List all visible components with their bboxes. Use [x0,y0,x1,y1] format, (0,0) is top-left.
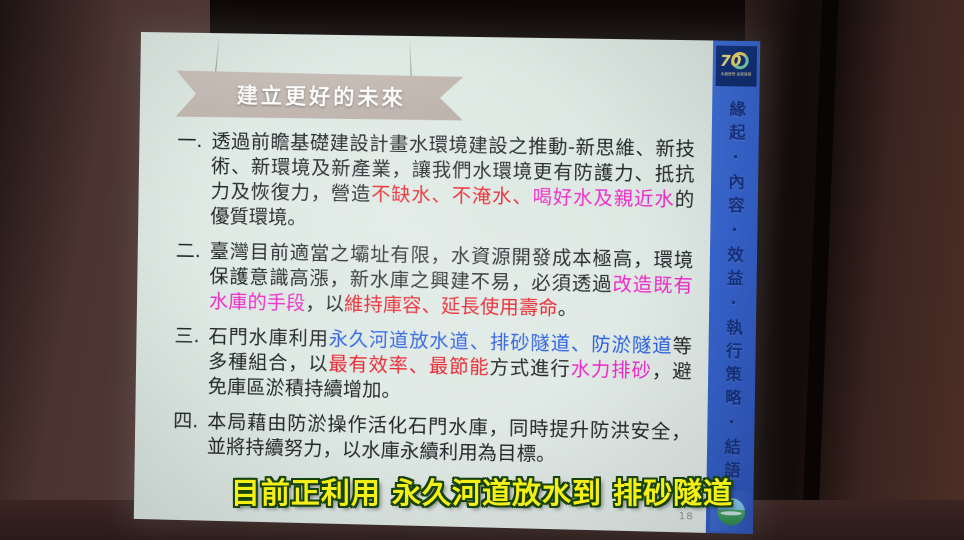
slide-title-banner: 建立更好的未來 [176,71,464,122]
text-segment-black: ，以 [305,292,344,315]
list-item-number: 三. [174,324,209,400]
text-segment-black: 。 [558,297,578,320]
text-segment-magenta: 喝好水及親近水 [532,186,674,211]
list-item: 二.臺灣目前適當之壩址有限，水資源開發成本極高，環境保護意識高漲，新水庫之興建不… [175,239,694,325]
text-segment-red: 最有效率、最節能 [328,353,490,379]
text-segment-magenta: 水力排砂 [570,358,652,382]
list-item-number: 二. [175,239,210,315]
list-item-text: 石門水庫利用永久河道放水道、排砂隧道、防淤隧道等多種組合，以最有效率、最節能方式… [208,324,693,410]
list-item: 一.透過前瞻基礎建設計畫水環境建設之推動-新思維、新技術、新環境及新產業，讓我們… [176,129,695,239]
text-segment-red: 維持庫容、延長使用壽命 [344,293,558,319]
anniversary-tagline: 永續經營 創新服務 [717,71,756,77]
text-segment-black: 本局藉由防淤操作活化石門水庫，同時提升防洪安全，並將持續努力，以水庫永續利用為目… [207,411,691,466]
text-segment-blue: 永久河道放水道、排砂隧道、防淤隧道 [329,328,673,357]
text-segment-black: 石門水庫利用 [208,325,329,350]
anniversary-ring-icon [731,52,749,69]
list-item-number: 四. [173,409,208,460]
projection-screen: 建立更好的未來 一.透過前瞻基礎建設計畫水環境建設之推動-新思維、新技術、新環境… [134,32,760,534]
section-nav-label: 緣起‧內容‧效益‧執行策略‧結語 [707,100,760,485]
text-segment-black: 方式進行 [489,356,570,380]
list-item: 三.石門水庫利用永久河道放水道、排砂隧道、防淤隧道等多種組合，以最有效率、最節能… [174,324,693,410]
list-item-text: 透過前瞻基礎建設計畫水環境建設之推動-新思維、新技術、新環境及新產業，讓我們水環… [210,129,695,238]
list-item-number: 一. [176,129,212,230]
page-number: 18 [679,511,694,522]
text-segment-red: 不缺水、不淹水、 [371,183,533,208]
list-item-text: 臺灣目前適當之壩址有限，水資源開發成本極高，環境保護意識高漲，新水庫之興建不易，… [209,239,694,324]
page-title: 建立更好的未來 [237,80,407,113]
anniversary-70-logo-icon: 70 永續經營 創新服務 [716,46,758,87]
banner-string-left [215,35,220,77]
banner-string-right [409,38,412,80]
video-caption: 目前正利用 永久河道放水到 排砂隧道 [0,470,964,512]
wall-right [745,0,964,540]
list-item: 四.本局藉由防淤操作活化石門水庫，同時提升防洪安全，並將持續努力，以水庫永續利用… [173,409,691,471]
presentation-slide: 建立更好的未來 一.透過前瞻基礎建設計畫水環境建設之推動-新思維、新技術、新環境… [134,32,760,534]
section-nav-strip[interactable]: 70 永續經營 創新服務 緣起‧內容‧效益‧執行策略‧結語 [706,40,760,534]
slide-body-list: 一.透過前瞻基礎建設計畫水環境建設之推動-新思維、新技術、新環境及新產業，讓我們… [173,129,696,481]
list-item-text: 本局藉由防淤操作活化石門水庫，同時提升防洪安全，並將持續努力，以水庫永續利用為目… [207,410,691,471]
